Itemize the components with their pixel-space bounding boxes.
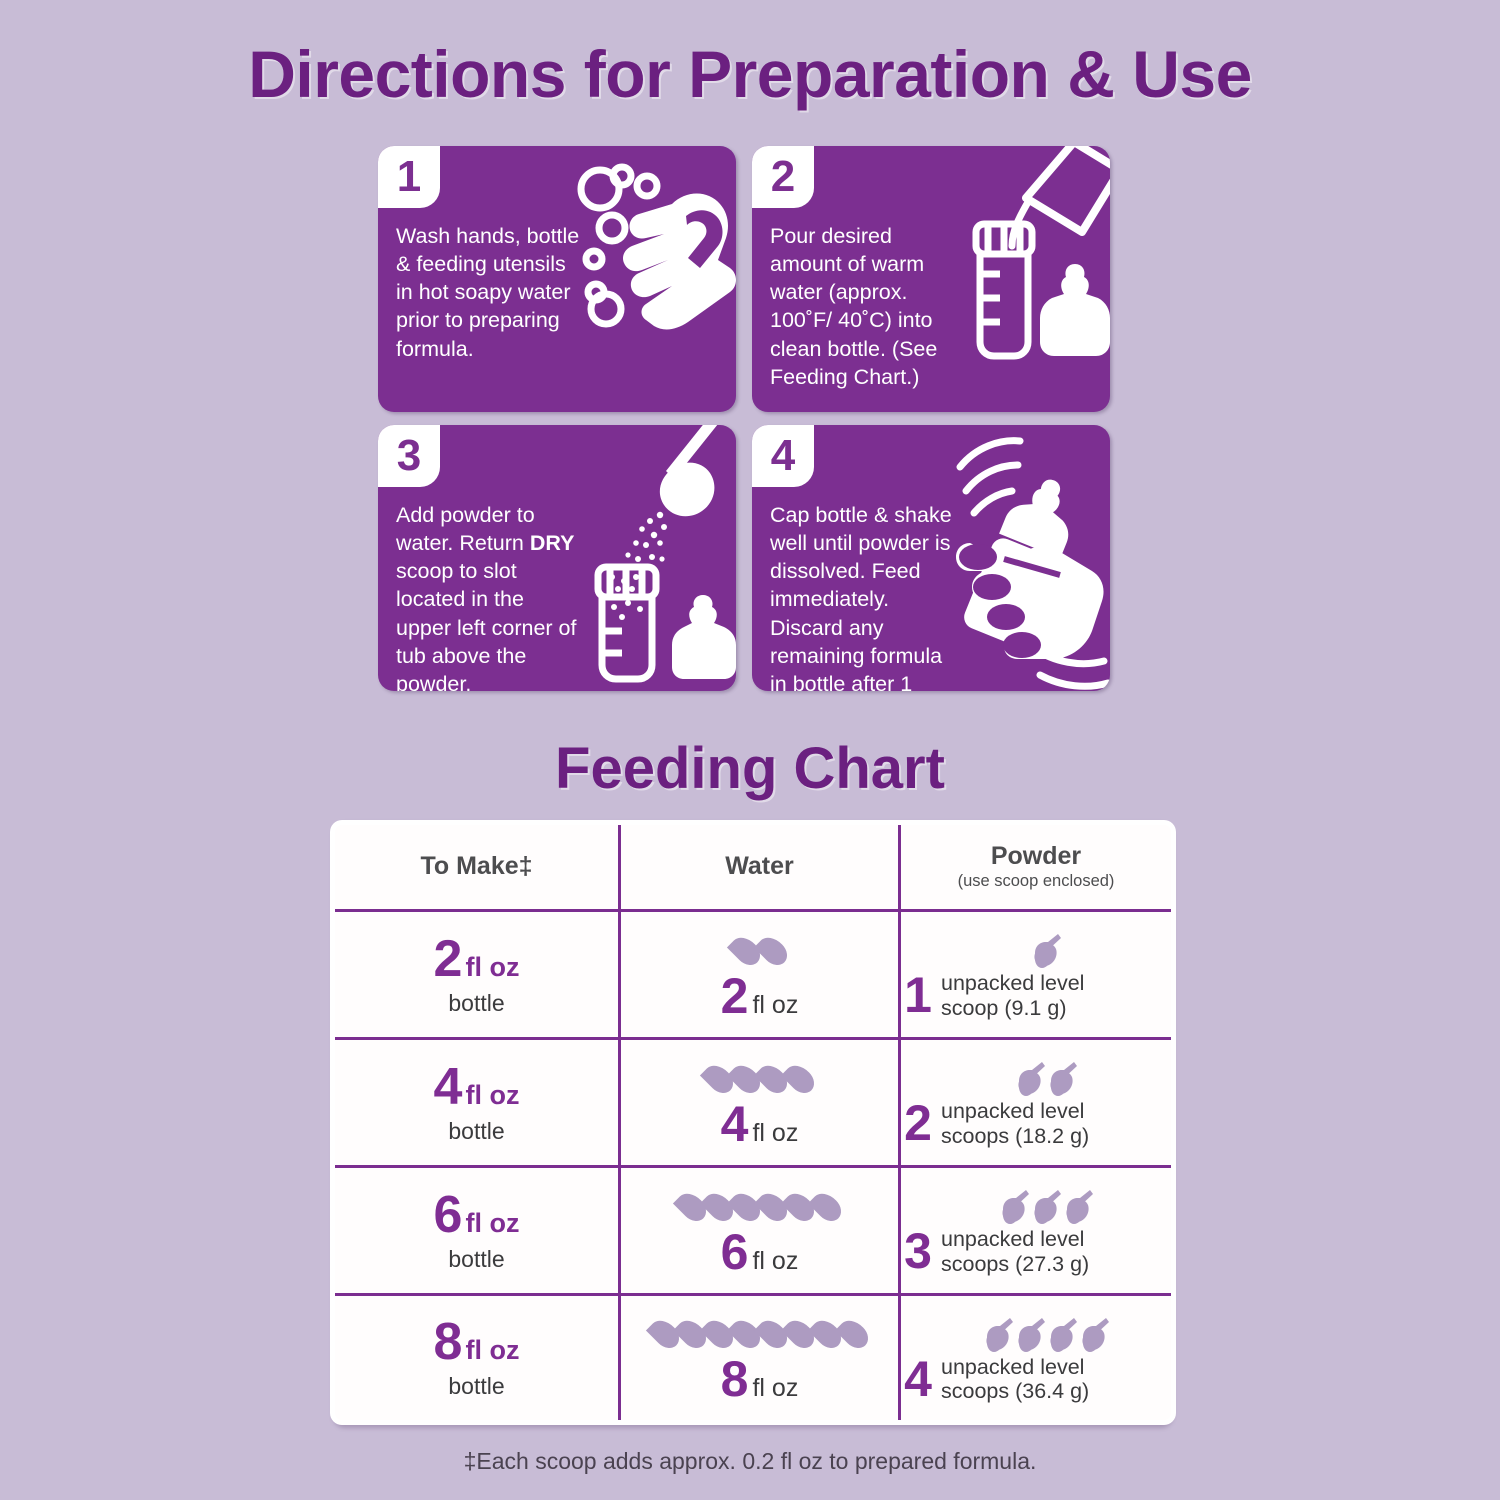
to-make-sublabel: bottle xyxy=(335,1118,618,1145)
water-droplet-icon xyxy=(781,1059,819,1097)
powder-description-line2: scoop (9.1 g) xyxy=(941,996,1066,1020)
to-make-amount: 8fl oz xyxy=(335,1316,618,1368)
column-header-water: Water xyxy=(620,823,900,911)
water-unit: fl oz xyxy=(752,1374,798,1402)
table-row: 6fl ozbottle6fl oz3unpacked levelscoops … xyxy=(333,1167,1174,1295)
to-make-unit: fl oz xyxy=(465,952,519,982)
to-make-number: 8 xyxy=(434,1313,463,1371)
pouring-water-bottle-icon xyxy=(942,146,1110,412)
powder-scoop-icon xyxy=(984,1317,1014,1353)
water-number: 2 xyxy=(721,968,749,1024)
cell-to-make: 4fl ozbottle xyxy=(333,1039,620,1167)
powder-description-line1: unpacked level xyxy=(941,971,1084,995)
step-number-badge-3: 3 xyxy=(378,425,440,487)
column-header-to-make-label: To Make‡ xyxy=(335,853,618,881)
to-make-unit: fl oz xyxy=(465,1208,519,1238)
scoop-powder-bottle-icon xyxy=(568,425,736,691)
step3-text-after: scoop to slot located in the upper left … xyxy=(396,559,576,691)
powder-description-line2: scoops (27.3 g) xyxy=(941,1252,1089,1276)
powder-description: unpacked levelscoops (36.4 g) xyxy=(941,1355,1089,1404)
column-header-powder-label: Powder xyxy=(901,843,1171,871)
cell-water: 4fl oz xyxy=(620,1039,900,1167)
step-card-1: 1 Wash hands, bottle & feeding utensils … xyxy=(378,146,736,412)
powder-amount: 2unpacked levelscoops (18.2 g) xyxy=(901,1099,1171,1148)
step-text-3: Add powder to water. Return DRY scoop to… xyxy=(396,501,582,691)
water-amount: 2fl oz xyxy=(621,971,898,1021)
water-droplet-icons xyxy=(621,1312,898,1350)
powder-description-line2: scoops (36.4 g) xyxy=(941,1379,1089,1403)
powder-amount: 1unpacked levelscoop (9.1 g) xyxy=(901,971,1171,1020)
step-number-badge-4: 4 xyxy=(752,425,814,487)
powder-scoop-icon xyxy=(1080,1317,1110,1353)
to-make-unit: fl oz xyxy=(465,1080,519,1110)
water-droplet-icons xyxy=(621,929,898,967)
table-row: 8fl ozbottle8fl oz4unpacked levelscoops … xyxy=(333,1295,1174,1423)
shaking-bottle-hand-icon xyxy=(942,425,1110,691)
footnote: ‡Each scoop adds approx. 0.2 fl oz to pr… xyxy=(0,1448,1500,1475)
cell-water: 8fl oz xyxy=(620,1295,900,1423)
powder-number: 3 xyxy=(901,1229,935,1274)
water-number: 4 xyxy=(721,1096,749,1152)
infographic-page: Directions for Preparation & Use 1 Wash … xyxy=(0,0,1500,1500)
to-make-amount: 4fl oz xyxy=(335,1061,618,1113)
water-droplet-icon xyxy=(754,931,792,969)
water-number: 6 xyxy=(721,1224,749,1280)
cell-water: 2fl oz xyxy=(620,911,900,1039)
cell-powder: 3unpacked levelscoops (27.3 g) xyxy=(900,1167,1174,1295)
step-card-2: 2 Pour desired amount of warm water (app… xyxy=(752,146,1110,412)
step-text-2: Pour desired amount of warm water (appro… xyxy=(770,222,956,391)
powder-scoop-icons xyxy=(901,1057,1171,1097)
feeding-chart-title: Feeding Chart xyxy=(0,735,1500,802)
to-make-amount: 2fl oz xyxy=(335,933,618,985)
water-amount: 4fl oz xyxy=(621,1099,898,1149)
powder-amount: 4unpacked levelscoops (36.4 g) xyxy=(901,1355,1171,1404)
powder-number: 1 xyxy=(901,973,935,1018)
powder-number: 2 xyxy=(901,1101,935,1146)
cell-to-make: 8fl ozbottle xyxy=(333,1295,620,1423)
powder-scoop-icon xyxy=(1016,1061,1046,1097)
to-make-unit: fl oz xyxy=(465,1335,519,1365)
column-header-powder-sublabel: (use scoop enclosed) xyxy=(901,872,1171,891)
powder-scoop-icon xyxy=(1048,1317,1078,1353)
step-card-3: 3 Add powder to water. Return DRY scoop … xyxy=(378,425,736,691)
step-number-badge-1: 1 xyxy=(378,146,440,208)
cell-to-make: 6fl ozbottle xyxy=(333,1167,620,1295)
water-droplet-icon xyxy=(835,1315,873,1353)
washing-hands-icon xyxy=(568,146,736,412)
column-header-to-make: To Make‡ xyxy=(333,823,620,911)
powder-description: unpacked levelscoop (9.1 g) xyxy=(941,971,1084,1020)
preparation-steps-grid: 1 Wash hands, bottle & feeding utensils … xyxy=(378,146,1122,691)
powder-number: 4 xyxy=(901,1357,935,1402)
powder-scoop-icon xyxy=(1032,933,1062,969)
to-make-number: 2 xyxy=(434,930,463,988)
powder-scoop-icon xyxy=(1064,1189,1094,1225)
powder-scoop-icons xyxy=(901,929,1171,969)
to-make-sublabel: bottle xyxy=(335,990,618,1017)
step3-text-before: Add powder to water. Return xyxy=(396,503,535,555)
step-number-badge-2: 2 xyxy=(752,146,814,208)
cell-to-make: 2fl ozbottle xyxy=(333,911,620,1039)
step-card-4: 4 Cap bottle & shake well until powder i… xyxy=(752,425,1110,691)
powder-description: unpacked levelscoops (18.2 g) xyxy=(941,1099,1089,1148)
water-droplet-icons xyxy=(621,1185,898,1223)
powder-description: unpacked levelscoops (27.3 g) xyxy=(941,1227,1089,1276)
table-row: 2fl ozbottle2fl oz1unpacked levelscoop (… xyxy=(333,911,1174,1039)
water-unit: fl oz xyxy=(752,1247,798,1275)
feeding-chart-table-wrapper: To Make‡ Water Powder (use scoop enclose… xyxy=(330,820,1170,1425)
column-header-water-label: Water xyxy=(621,853,898,881)
to-make-number: 4 xyxy=(434,1058,463,1116)
table-body: 2fl ozbottle2fl oz1unpacked levelscoop (… xyxy=(333,911,1174,1423)
table-row: 4fl ozbottle4fl oz2unpacked levelscoops … xyxy=(333,1039,1174,1167)
water-number: 8 xyxy=(721,1351,749,1407)
powder-description-line2: scoops (18.2 g) xyxy=(941,1124,1089,1148)
powder-scoop-icons xyxy=(901,1185,1171,1225)
step-text-1: Wash hands, bottle & feeding utensils in… xyxy=(396,222,582,363)
water-unit: fl oz xyxy=(752,991,798,1019)
to-make-number: 6 xyxy=(434,1186,463,1244)
step3-text-bold: DRY xyxy=(530,531,575,555)
cell-powder: 2unpacked levelscoops (18.2 g) xyxy=(900,1039,1174,1167)
powder-description-line1: unpacked level xyxy=(941,1227,1084,1251)
table-header-row: To Make‡ Water Powder (use scoop enclose… xyxy=(333,823,1174,911)
cell-powder: 4unpacked levelscoops (36.4 g) xyxy=(900,1295,1174,1423)
step-text-4: Cap bottle & shake well until powder is … xyxy=(770,501,956,691)
powder-scoop-icon xyxy=(1000,1189,1030,1225)
column-header-powder: Powder (use scoop enclosed) xyxy=(900,823,1174,911)
powder-description-line1: unpacked level xyxy=(941,1099,1084,1123)
cell-powder: 1unpacked levelscoop (9.1 g) xyxy=(900,911,1174,1039)
page-title: Directions for Preparation & Use xyxy=(0,36,1500,112)
powder-amount: 3unpacked levelscoops (27.3 g) xyxy=(901,1227,1171,1276)
to-make-sublabel: bottle xyxy=(335,1246,618,1273)
to-make-sublabel: bottle xyxy=(335,1373,618,1400)
water-droplet-icons xyxy=(621,1057,898,1095)
powder-description-line1: unpacked level xyxy=(941,1355,1084,1379)
powder-scoop-icon xyxy=(1016,1317,1046,1353)
powder-scoop-icons xyxy=(901,1313,1171,1353)
water-droplet-icon xyxy=(808,1187,846,1225)
feeding-chart-table: To Make‡ Water Powder (use scoop enclose… xyxy=(330,820,1176,1425)
water-unit: fl oz xyxy=(752,1119,798,1147)
powder-scoop-icon xyxy=(1048,1061,1078,1097)
to-make-amount: 6fl oz xyxy=(335,1189,618,1241)
water-amount: 8fl oz xyxy=(621,1354,898,1404)
powder-scoop-icon xyxy=(1032,1189,1062,1225)
cell-water: 6fl oz xyxy=(620,1167,900,1295)
water-amount: 6fl oz xyxy=(621,1227,898,1277)
table-head: To Make‡ Water Powder (use scoop enclose… xyxy=(333,823,1174,911)
